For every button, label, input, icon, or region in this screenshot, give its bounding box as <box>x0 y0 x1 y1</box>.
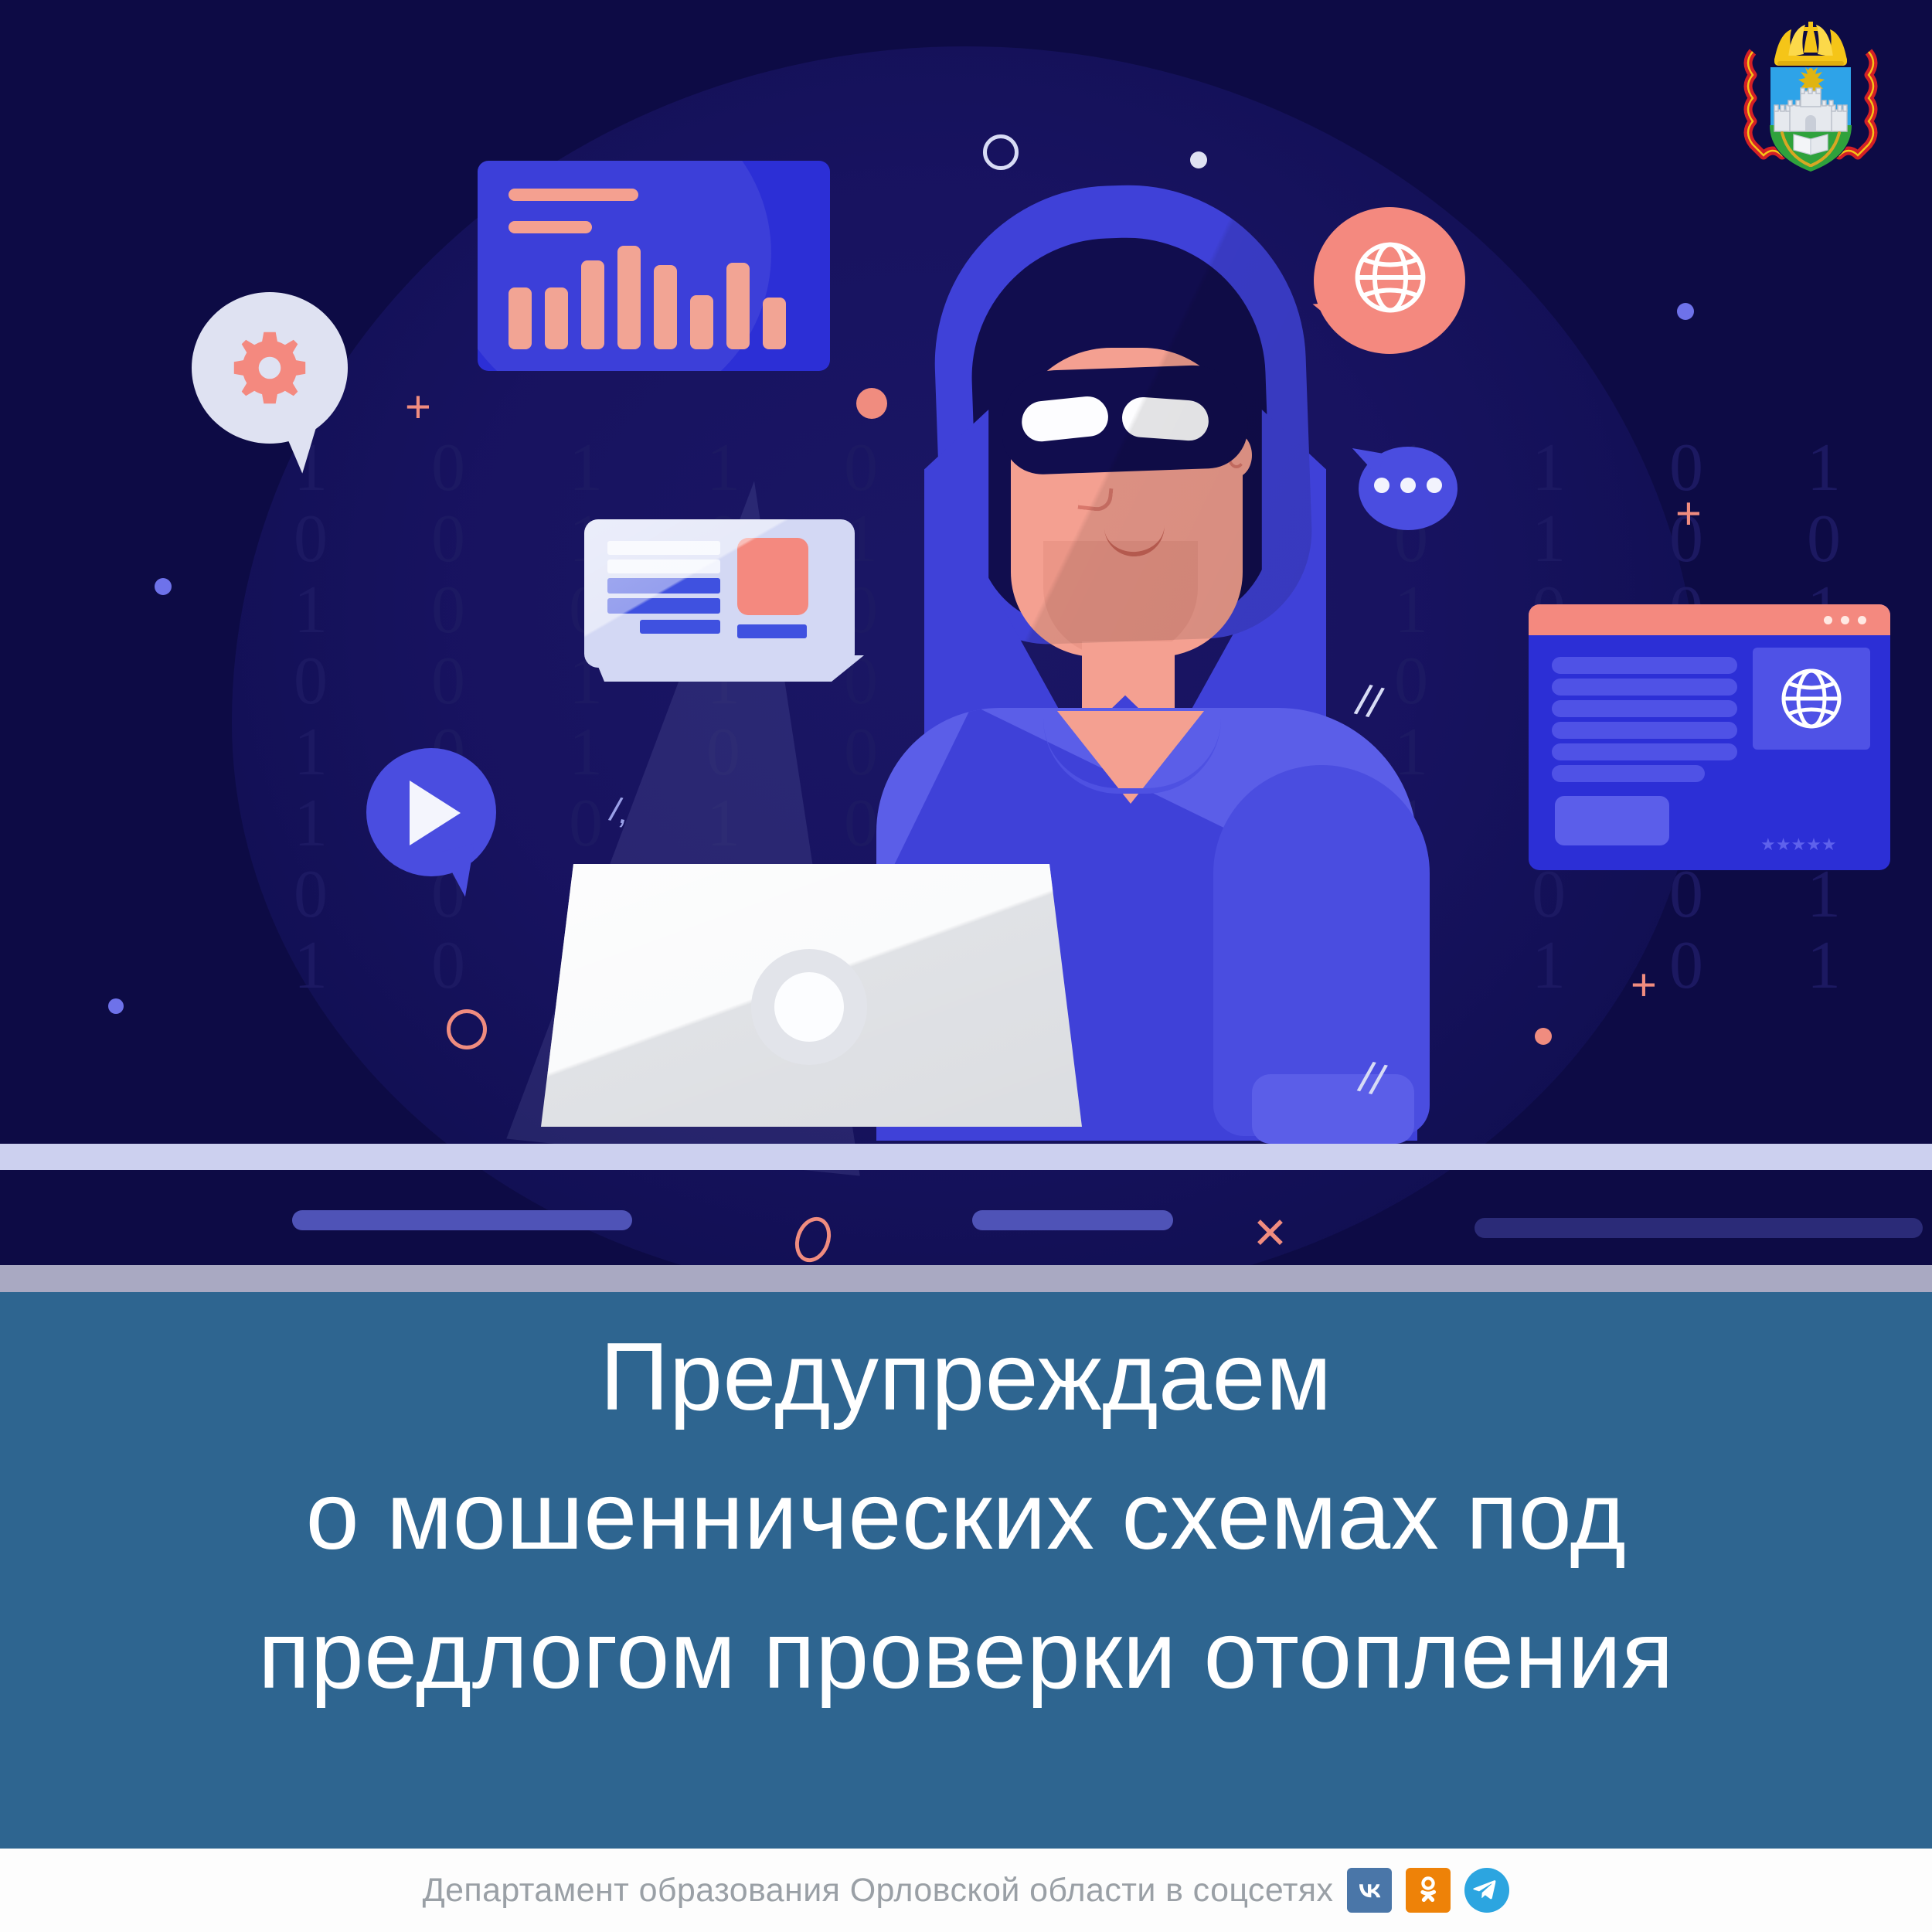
gear-bubble <box>192 292 348 444</box>
ring-icon <box>983 134 1019 170</box>
bar-6 <box>690 295 713 349</box>
title-line-3: предлогом проверки отопления <box>0 1586 1932 1725</box>
bar-2 <box>545 287 568 349</box>
poster: 1 0 1 1 0 1 1 0 1 1 0 1 1 0 1 1 0 1 0 0 … <box>0 0 1932 1932</box>
footer: Департамент образования Орловской област… <box>0 1849 1932 1932</box>
odnoklassniki-icon[interactable] <box>1406 1868 1451 1913</box>
bar-5 <box>654 265 677 349</box>
laptop-logo-inner <box>774 972 844 1042</box>
telegram-icon[interactable] <box>1464 1868 1509 1913</box>
media-panel <box>1753 648 1870 750</box>
plus-icon: + <box>1631 963 1657 1008</box>
x-icon: ✕ <box>1252 1212 1288 1255</box>
desk-segment <box>77 1144 178 1170</box>
plus-icon: + <box>1675 492 1702 536</box>
footer-label: Департамент образования Орловской област… <box>423 1872 1334 1910</box>
telegram-glyph <box>1471 1875 1502 1906</box>
coat-of-arms-oryol-oblast <box>1737 17 1884 178</box>
content-line <box>1552 657 1737 674</box>
card-header-line-1 <box>509 189 638 201</box>
dot-icon <box>856 388 887 419</box>
bar-3 <box>581 260 604 349</box>
window-dot-icon <box>1824 616 1832 624</box>
content-line <box>1552 765 1705 782</box>
vk-icon[interactable] <box>1347 1868 1392 1913</box>
page-title: Предупреждаем о мошеннических схемах под… <box>0 1308 1932 1725</box>
card-sheen <box>584 519 855 668</box>
bar-4 <box>617 246 641 349</box>
gear-icon <box>227 325 312 410</box>
rating-stars: ★★★★★ <box>1760 836 1837 853</box>
ring-icon <box>447 1009 487 1049</box>
title-line-2: о мошеннических схемах под <box>0 1447 1932 1586</box>
browser-window-card: ★★★★★ <box>1529 604 1890 870</box>
emblem-svg <box>1737 17 1884 178</box>
dot-icon <box>1535 1028 1552 1045</box>
dot-icon <box>1677 303 1694 320</box>
content-line <box>1552 679 1737 696</box>
vk-glyph <box>1352 1873 1386 1907</box>
bar-7 <box>726 263 750 349</box>
illustration-panel: 1 0 1 1 0 1 1 0 1 1 0 1 1 0 1 1 0 1 0 0 … <box>0 0 1932 1265</box>
hood-sheen <box>929 179 1315 648</box>
footer-content: Департамент образования Орловской област… <box>0 1849 1932 1932</box>
bar-chart <box>509 226 815 349</box>
laptop <box>541 864 1144 1142</box>
shelf <box>1475 1218 1923 1238</box>
content-line <box>1552 722 1737 739</box>
play-bubble <box>366 748 496 876</box>
sleeve-cuff <box>1252 1074 1414 1144</box>
ok-glyph <box>1413 1875 1444 1906</box>
content-line <box>1552 743 1737 760</box>
dot-icon <box>1190 151 1207 168</box>
browser-titlebar <box>1529 604 1890 635</box>
divider-bar <box>0 1265 1932 1292</box>
shelf <box>972 1210 1173 1230</box>
bar-8 <box>763 298 786 349</box>
play-icon <box>410 781 461 845</box>
globe-icon <box>1773 660 1850 737</box>
content-line <box>1552 700 1737 717</box>
bar-1 <box>509 287 532 349</box>
cta-button <box>1555 796 1669 845</box>
dot-icon <box>108 998 124 1014</box>
article-preview-card <box>584 519 867 679</box>
window-dot-icon <box>1841 616 1849 624</box>
window-dot-icon <box>1858 616 1866 624</box>
dot-icon <box>155 578 172 595</box>
desk-surface <box>0 1144 1932 1170</box>
shelf <box>292 1210 632 1230</box>
bubble-tail <box>279 413 328 476</box>
analytics-card <box>478 161 830 371</box>
plus-icon: + <box>405 385 431 430</box>
title-line-1: Предупреждаем <box>0 1308 1932 1447</box>
